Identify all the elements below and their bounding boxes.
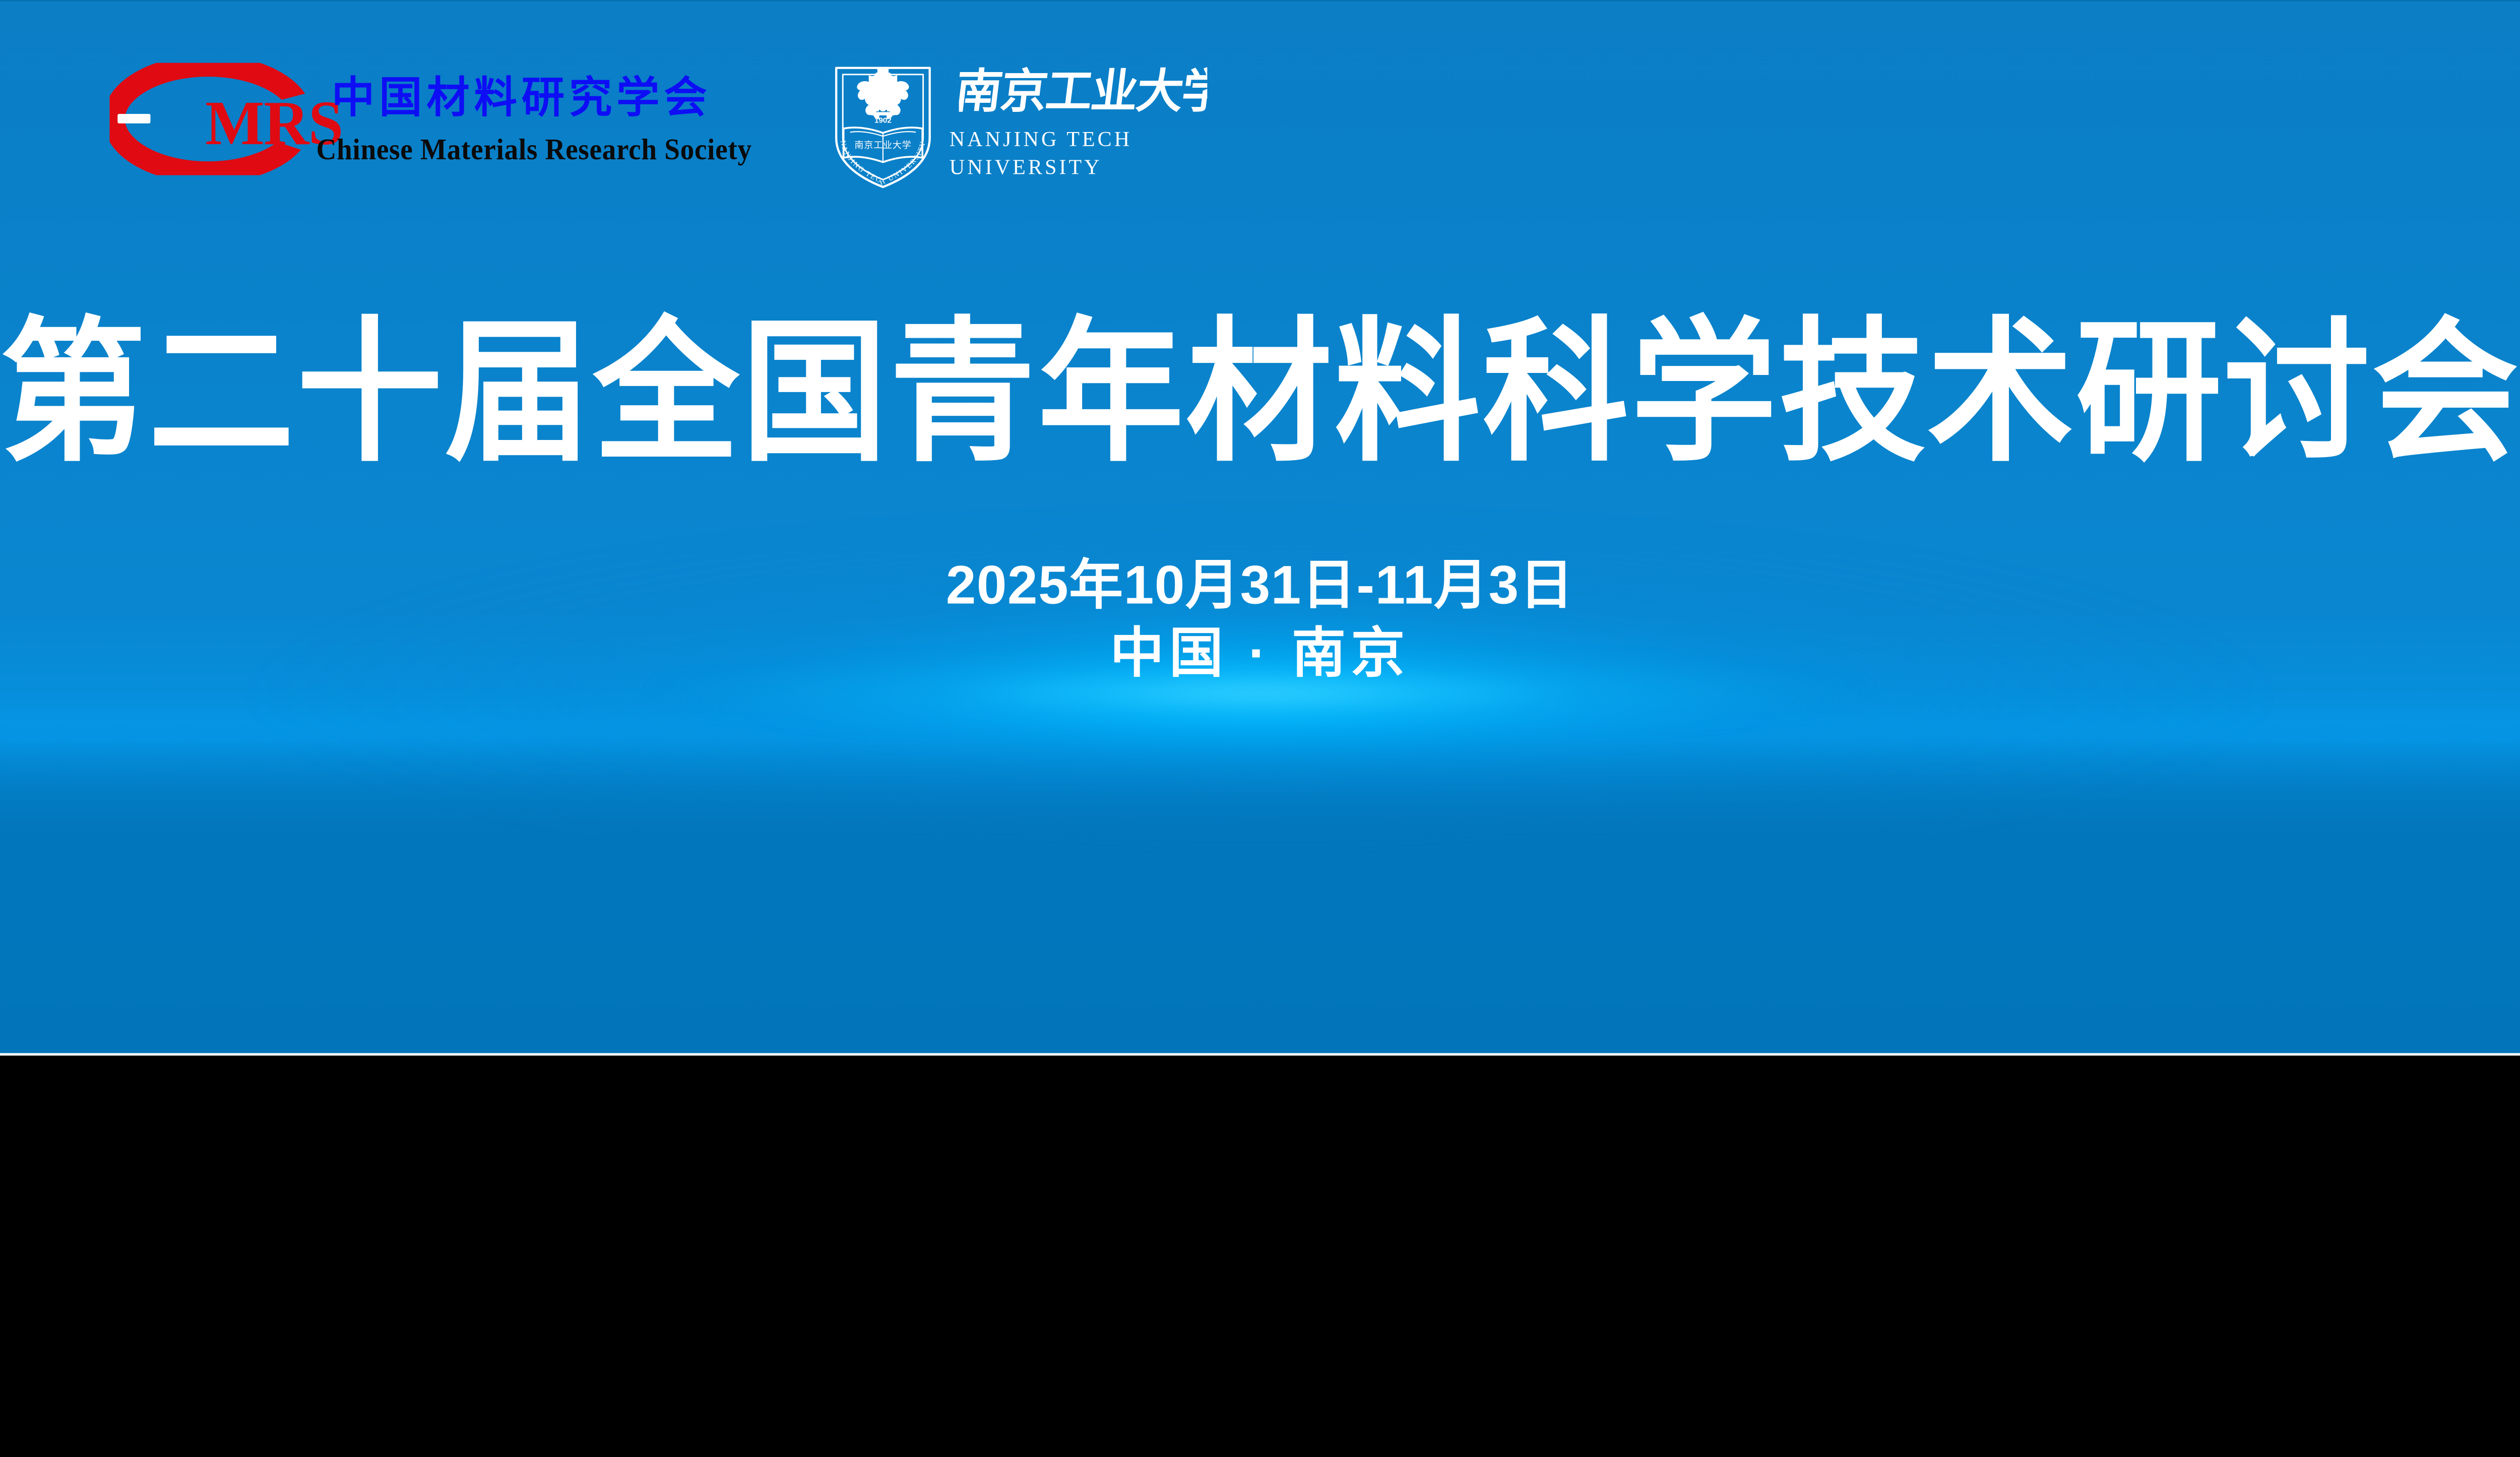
cmrs-logo: MRS 中国材料研究学会 Chinese Materials Research …	[109, 58, 767, 179]
bottom-edge-strip	[0, 1053, 2520, 1056]
cmrs-chinese-name: 中国材料研究学会	[332, 76, 712, 119]
conference-banner: MRS 中国材料研究学会 Chinese Materials Research …	[0, 0, 2520, 1056]
njtu-logo: 1902 南京工业大学	[828, 51, 1303, 189]
conference-date: 2025年10月31日-11月3日	[0, 551, 2520, 619]
njtu-shield-book-text: 南京工业大学	[854, 140, 911, 150]
background-lower-gradient	[0, 723, 2520, 1056]
njtu-chinese-name: 南京工业大学	[959, 65, 1208, 119]
cmrs-english-name: Chinese Materials Research Society	[316, 135, 751, 164]
cmrs-dash-icon	[117, 114, 150, 123]
svg-text:南京工业大学: 南京工业大学	[959, 65, 1208, 117]
logo-strip: MRS 中国材料研究学会 Chinese Materials Research …	[0, 0, 2520, 197]
njtu-english-name: NANJING TECH UNIVERSITY	[950, 125, 1132, 181]
conference-location: 中国 · 南京	[0, 619, 2520, 687]
conference-meta: 2025年10月31日-11月3日 中国 · 南京	[0, 551, 2520, 687]
conference-title: 第二十届全国青年材料科学技术研讨会	[0, 306, 2520, 479]
njtu-shield-icon: 1902 南京工业大学	[828, 51, 937, 189]
